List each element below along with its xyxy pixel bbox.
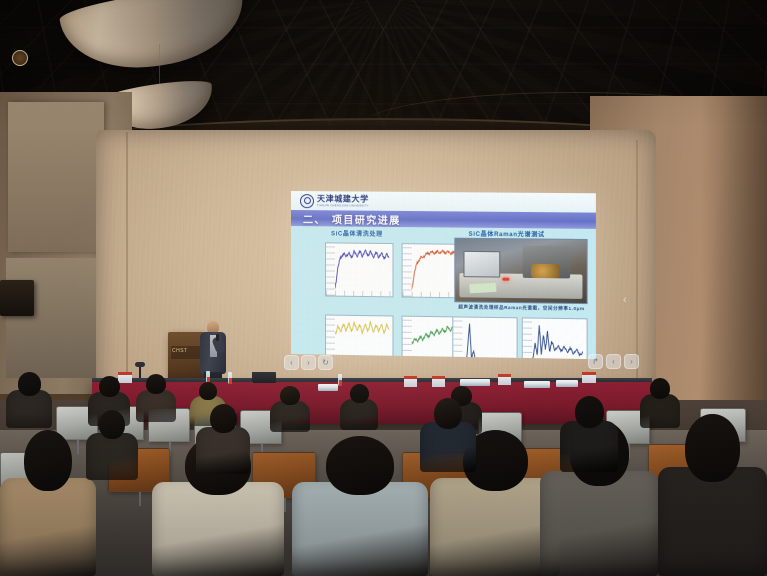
equipment-sample-stage <box>531 264 560 279</box>
slide-header: 天津城建大学 TIANJIN CHENGJIAN UNIVERSITY <box>291 191 596 213</box>
audience-head <box>434 398 462 429</box>
chart-spectrum-blue <box>325 242 393 297</box>
university-name-en: TIANJIN CHENGJIAN UNIVERSITY <box>317 204 369 207</box>
stacked-papers <box>556 380 578 387</box>
audience-torso <box>0 478 96 576</box>
audience-member <box>340 384 378 430</box>
audience-member <box>136 374 176 422</box>
slide-title-text: 项目研究进展 <box>332 211 401 227</box>
y-axis-ticks <box>453 317 462 359</box>
audience-member <box>86 410 138 480</box>
prev-slide-icon[interactable]: ‹ <box>284 355 299 370</box>
chevron-left-icon: ‹ <box>623 294 627 306</box>
y-axis-ticks <box>326 243 335 295</box>
audience-head <box>350 384 369 403</box>
wall-speaker <box>0 280 34 316</box>
audience-torso <box>340 399 378 430</box>
audience-member <box>658 414 767 576</box>
audience-member <box>420 398 476 472</box>
stacked-papers <box>524 381 550 388</box>
audience-head <box>210 404 237 433</box>
audience-torso <box>560 421 618 472</box>
audience-member <box>0 430 96 576</box>
chart-raman-after <box>522 317 588 359</box>
audience-torso <box>540 471 658 576</box>
equipment-papers <box>469 283 496 294</box>
name-card <box>582 372 596 383</box>
reload-icon[interactable]: ↻ <box>318 355 333 370</box>
y-axis-ticks <box>523 318 532 359</box>
stacked-papers <box>318 384 338 391</box>
audience-head <box>199 382 217 400</box>
audience-head <box>650 378 670 399</box>
university-logo: 天津城建大学 TIANJIN CHENGJIAN UNIVERSITY <box>300 194 369 209</box>
audience-member <box>270 386 310 432</box>
audience-torso <box>658 467 767 576</box>
audience-head <box>575 396 604 428</box>
audience-torso <box>152 482 284 576</box>
slide-canvas: 天津城建大学 TIANJIN CHENGJIAN UNIVERSITY 二、 项… <box>291 191 596 359</box>
slide-title: 二、 项目研究进展 <box>303 211 401 227</box>
handheld-microphone <box>216 334 219 341</box>
prev-slide-icon[interactable]: ‹ <box>606 354 621 369</box>
audience-head <box>18 372 41 396</box>
lecture-hall-photo: 天津城建大学 TIANJIN CHENGJIAN UNIVERSITY 二、 项… <box>0 0 767 576</box>
y-axis-ticks <box>403 317 412 360</box>
wall-right-shadow <box>700 96 767 426</box>
university-seal-icon <box>300 194 314 208</box>
audience-head <box>99 376 120 397</box>
slide-label-left-top: SiC晶体清洗处理 <box>331 228 383 238</box>
projected-slide[interactable]: 天津城建大学 TIANJIN CHENGJIAN UNIVERSITY 二、 项… <box>291 191 596 359</box>
slide-label-right-caption: 超声波清洗处理样品Raman光谱图，空间分辨率1.0μm <box>458 304 584 312</box>
audience-torso <box>270 401 310 432</box>
lectern-emblem <box>12 50 28 66</box>
audience-torso <box>6 390 52 428</box>
audience-torso <box>196 427 250 474</box>
share-icon[interactable]: ↱ <box>588 354 603 369</box>
audience-member <box>6 372 52 428</box>
name-card <box>404 376 417 387</box>
x-axis-ticks <box>326 290 392 296</box>
wall-panel-lower <box>6 258 104 378</box>
university-name: 天津城建大学 <box>317 195 369 203</box>
laptop <box>252 372 276 383</box>
audience-member <box>560 396 618 472</box>
audience-torso <box>86 433 138 480</box>
audience-torso <box>420 422 476 472</box>
audience-head <box>280 386 300 405</box>
audience-member <box>292 436 428 576</box>
chart-spectrum-yellow <box>325 314 393 359</box>
audience-head <box>24 430 72 491</box>
stacked-books <box>460 379 490 386</box>
slide-section-number: 二、 <box>303 211 326 226</box>
audience-torso <box>136 390 176 422</box>
next-slide-icon[interactable]: › <box>624 354 639 369</box>
slide-body: SiC晶体清洗处理 超声波清洗处理，时长1h SiC晶体Raman光谱测试 超声… <box>291 226 596 359</box>
wall-panel-upper <box>8 102 104 252</box>
equipment-monitor <box>463 251 500 278</box>
audience-head <box>146 374 166 394</box>
pendant-stem <box>159 44 160 88</box>
y-axis-ticks <box>326 316 335 360</box>
y-axis-ticks <box>403 244 412 296</box>
audience-torso <box>292 482 428 576</box>
raman-spectrometer-photo <box>454 238 587 304</box>
name-card <box>498 374 511 385</box>
audience-member <box>196 404 250 474</box>
audience-head <box>685 414 740 482</box>
equipment-laser-indicator <box>502 278 509 281</box>
lectern-label: CHST <box>172 348 188 354</box>
water-bottle <box>228 372 232 384</box>
audience-head <box>326 436 394 495</box>
pendant-lamp-large <box>62 0 246 66</box>
audience-head <box>99 410 125 439</box>
next-slide-icon[interactable]: › <box>301 355 316 370</box>
chart-raman-before <box>452 316 517 359</box>
